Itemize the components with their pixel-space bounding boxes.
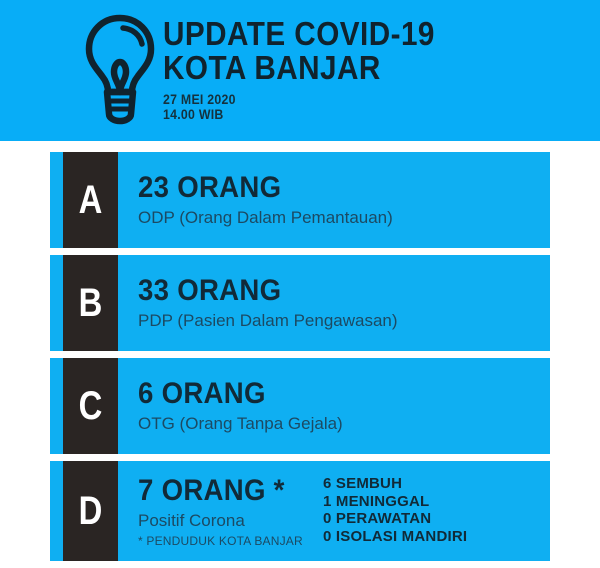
card-left-strip [50,152,63,248]
card-letter-d: D [79,491,103,531]
card-body: 23 ORANG ODP (Orang Dalam Pemantauan) [118,152,550,248]
card-count-d: 7 ORANG * [138,475,290,506]
stat-card-a: A 23 ORANG ODP (Orang Dalam Pemantauan) [50,152,550,248]
stat-treatment: 0 PERAWATAN [323,510,467,528]
outcome-stats-list: 6 SEMBUH 1 MENINGGAL 0 PERAWATAN 0 ISOLA… [323,475,467,545]
lightbulb-icon [76,8,164,128]
card-letter-c: C [79,386,103,426]
card-letter-badge: D [63,461,118,561]
card-text-block: 7 ORANG * Positif Corona * PENDUDUK KOTA… [138,475,303,548]
stat-card-d: D 7 ORANG * Positif Corona * PENDUDUK KO… [50,461,550,561]
card-letter-badge: A [63,152,118,248]
stat-recovered: 6 SEMBUH [323,475,467,493]
stat-self-isolation: 0 ISOLASI MANDIRI [323,528,467,546]
card-letter-badge: C [63,358,118,454]
stat-deceased: 1 MENINGGAL [323,493,467,511]
card-count-a: 23 ORANG [138,172,372,203]
card-body: 7 ORANG * Positif Corona * PENDUDUK KOTA… [118,461,550,561]
header-text-block: UPDATE COVID-19 KOTA BANJAR 27 MEI 2020 … [163,17,583,122]
card-letter-b: B [79,283,103,323]
card-description-c: OTG (Orang Tanpa Gejala) [138,413,343,435]
card-description-d: Positif Corona [138,510,303,532]
card-text-block: 6 ORANG OTG (Orang Tanpa Gejala) [138,378,343,435]
card-description-a: ODP (Orang Dalam Pemantauan) [138,207,393,229]
stat-card-b: B 33 ORANG PDP (Pasien Dalam Pengawasan) [50,255,550,351]
stat-card-c: C 6 ORANG OTG (Orang Tanpa Gejala) [50,358,550,454]
card-footnote-d: * PENDUDUK KOTA BANJAR [138,534,303,548]
card-left-strip [50,255,63,351]
header-banner: UPDATE COVID-19 KOTA BANJAR 27 MEI 2020 … [0,0,600,141]
card-description-b: PDP (Pasien Dalam Pengawasan) [138,310,398,332]
page-title-line-1: UPDATE COVID-19 [163,17,541,51]
covid-update-infographic: UPDATE COVID-19 KOTA BANJAR 27 MEI 2020 … [0,0,600,568]
card-left-strip [50,358,63,454]
card-count-c: 6 ORANG [138,378,326,409]
card-count-b: 33 ORANG [138,275,377,306]
card-text-block: 23 ORANG ODP (Orang Dalam Pemantauan) [138,172,393,229]
card-letter-badge: B [63,255,118,351]
statistics-card-list: A 23 ORANG ODP (Orang Dalam Pemantauan) … [50,152,550,568]
update-date: 27 MEI 2020 [163,92,533,107]
card-body: 33 ORANG PDP (Pasien Dalam Pengawasan) [118,255,550,351]
card-letter-a: A [79,180,103,220]
card-text-block: 33 ORANG PDP (Pasien Dalam Pengawasan) [138,275,398,332]
page-title-line-2: KOTA BANJAR [163,51,541,85]
card-body: 6 ORANG OTG (Orang Tanpa Gejala) [118,358,550,454]
card-left-strip [50,461,63,561]
update-time: 14.00 WIB [163,107,533,122]
